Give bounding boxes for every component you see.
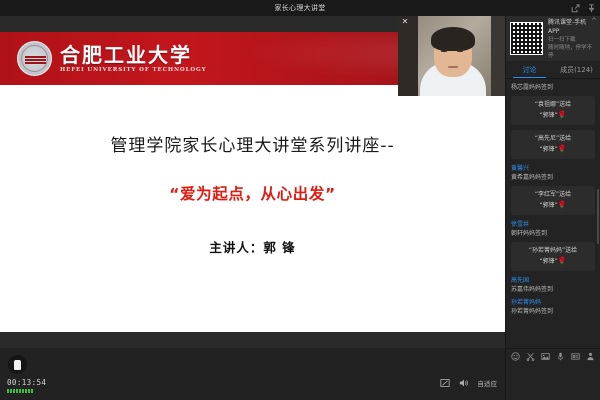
tab-discussion[interactable]: 讨论 [506,61,553,78]
rose-icon: 🌹 [558,111,567,119]
message-sender[interactable]: 黄馨兴 [511,164,595,173]
presenter-webcam[interactable]: ✕ [398,16,505,96]
chat-message: 黄馨兴黄希嘉妈妈签到 [511,164,595,182]
gift-receiver-line: “郭锋”🌹 [514,110,592,121]
message-sender[interactable]: 高先国 [511,276,595,285]
window-title: 家长心理大讲堂 [274,3,325,13]
player-status: 00:13:54 [7,378,46,393]
volume-icon[interactable] [459,378,469,388]
chat-message: 高先国苏嘉伟妈妈签到 [511,276,595,294]
close-icon[interactable]: ✕ [400,17,410,27]
quality-selector[interactable]: 自适应 [478,378,498,388]
gift-message: “高先尼”送给“郭锋”🌹 [511,130,595,159]
network-signal-icon [7,389,46,393]
qr-code [510,22,543,55]
slide-title-line-2: “爱为起点，从心出发” [0,182,505,204]
gift-sender-line: “孙若菁妈妈”送给 [514,246,592,256]
chat-message: 孙若菁妈妈孙若菁妈妈签到 [511,298,595,316]
gift-receiver-line: “郭锋”🌹 [514,256,592,267]
rose-icon: 🌹 [558,201,567,209]
chat-message: 杨芯露妈妈签到 [511,83,595,92]
card-icon[interactable] [571,352,580,361]
gift-receiver-line: “郭锋”🌹 [514,144,592,155]
rose-icon: 🌹 [558,145,567,153]
right-sidebar: ^ 腾讯课堂-手机APP 扫一扫下载 随时随地，停学不停 讨论 成员(124) … [505,16,600,400]
pointer-indicator [8,355,27,374]
emoji-icon[interactable] [511,352,520,361]
university-logo: 合肥工业大学 HEFEI UNIVERSITY OF TECHNOLOGY [17,41,206,76]
elapsed-time: 00:13:54 [7,378,46,387]
promo-text: 腾讯课堂-手机APP 扫一扫下载 随时随地，停学不停 [548,18,595,60]
chat-message-list[interactable]: 杨芯露妈妈签到“袁祖娜”送给“郭锋”🌹“高先尼”送给“郭锋”🌹黄馨兴黄希嘉妈妈签… [506,79,600,348]
image-icon[interactable] [541,352,550,361]
gift-sender-line: “袁祖娜”送给 [514,100,592,110]
chat-scrollbar[interactable] [597,189,599,244]
share-icon[interactable] [571,4,580,13]
promo-line-1: 腾讯课堂-手机APP [548,18,595,36]
message-text: 苏嘉伟妈妈签到 [511,285,595,294]
gift-receiver-line: “郭锋”🌹 [514,200,592,211]
player-bar: 00:13:54 自适应 [0,348,505,400]
gift-message: “李红军”送给“郭锋”🌹 [511,186,595,215]
promo-line-2: 扫一扫下载 [548,36,595,44]
university-name-cn: 合肥工业大学 [60,44,206,66]
slide-body: 管理学院家长心理大讲堂系列讲座-- “爱为起点，从心出发” 主讲人：郭 锋 [0,85,505,256]
fullscreen-icon[interactable] [440,378,450,388]
tab-members[interactable]: 成员(124) [553,61,600,78]
chevron-up-icon[interactable]: ^ [591,17,597,25]
mobile-app-promo: ^ 腾讯课堂-手机APP 扫一扫下载 随时随地，停学不停 [506,16,600,61]
university-logo-text: 合肥工业大学 HEFEI UNIVERSITY OF TECHNOLOGY [60,44,206,74]
message-sender[interactable]: 徐雪井 [511,220,595,229]
window-titlebar: 家长心理大讲堂 [0,0,600,16]
webcam-video [398,16,505,96]
university-name-en: HEFEI UNIVERSITY OF TECHNOLOGY [60,66,206,74]
scissors-icon[interactable] [526,352,535,361]
message-text: 黄希嘉妈妈签到 [511,173,595,182]
gift-sender-line: “高先尼”送给 [514,134,592,144]
gift-sender-line: “李红军”送给 [514,190,592,200]
message-text: 朝轩妈妈签到 [511,229,595,238]
promo-line-3: 随时随地，停学不停 [548,44,595,60]
microphone-icon[interactable] [556,352,565,361]
slide-title-line-1: 管理学院家长心理大讲堂系列讲座-- [0,131,505,156]
chat-input[interactable] [506,364,600,400]
tencent-classroom-window: 家长心理大讲堂 合肥工业大学 HEFEI UNIVERSITY OF TECHN… [0,0,600,400]
message-sender[interactable]: 孙若菁妈妈 [511,298,595,307]
titlebar-actions [571,0,596,16]
slide-speaker: 主讲人：郭 锋 [0,237,505,256]
sidebar-tabs: 讨论 成员(124) [506,61,600,79]
gift-message: “孙若菁妈妈”送给“郭锋”🌹 [511,242,595,271]
chat-message: 徐雪井朝轩妈妈签到 [511,220,595,238]
player-controls: 自适应 [440,378,498,388]
raise-hand-icon[interactable] [586,352,595,361]
chat-toolbar [506,348,600,364]
message-text: 孙若菁妈妈签到 [511,307,595,316]
hand-cursor-icon [14,360,21,370]
message-text: 杨芯露妈妈签到 [511,83,595,92]
pin-icon[interactable] [587,4,596,13]
gift-message: “袁祖娜”送给“郭锋”🌹 [511,96,595,125]
rose-icon: 🌹 [558,257,567,265]
university-seal-icon [17,41,52,76]
